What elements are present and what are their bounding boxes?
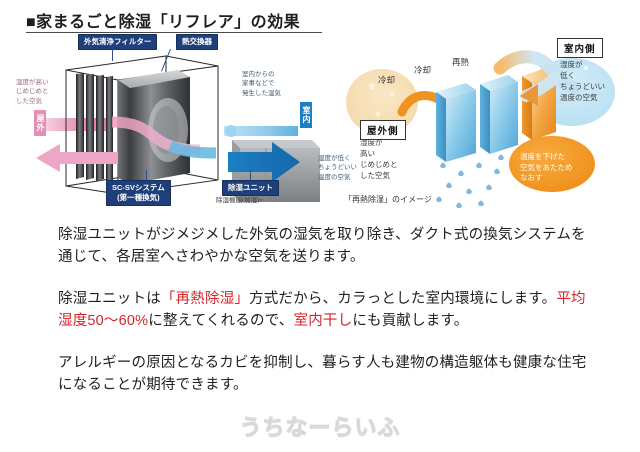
cooling-coil-1 bbox=[436, 83, 476, 162]
page-title: ■家まるごと除湿「リフレア」の効果 bbox=[26, 8, 300, 32]
chip-sc-sv-system: SC-SVシステム (第一種換気) bbox=[106, 180, 171, 206]
cooling-coil-2 bbox=[480, 75, 518, 154]
note-right-humid-air: 湿度が 高い じめじめと した空気 bbox=[360, 138, 398, 182]
note-humid-air-in: 湿度が高い じめじめと した空気 bbox=[16, 78, 49, 106]
condensate-droplets bbox=[436, 155, 504, 209]
diagram-area: 外気清浄フィルター 熱交換器 SC-SVシステム (第一種換気) 除湿ユニット … bbox=[0, 34, 640, 214]
leader-filter bbox=[112, 49, 113, 61]
label-cool-2: 冷却 bbox=[414, 64, 431, 76]
label-outdoor-side: 屋外側 bbox=[360, 120, 406, 140]
paragraph-3: アレルギーの原因となるカビを抑制し、暮らす人も建物の構造躯体も健康な住宅になるこ… bbox=[58, 352, 598, 397]
chip-outdoor-filter: 外気清浄フィルター bbox=[78, 34, 157, 50]
indoor-moisture-inflow bbox=[224, 125, 298, 137]
p2-highlight-reheat: 「再熱除湿」 bbox=[161, 291, 249, 307]
label-cool-1: 冷却 bbox=[378, 74, 395, 86]
dehumidifier-subcaption: 除湿機能(加湿)= bbox=[216, 196, 263, 205]
watermark: うちなーらいふ bbox=[0, 410, 640, 442]
slide-root: ■家まるごと除湿「リフレア」の効果 bbox=[0, 0, 640, 452]
label-reheat: 再熱 bbox=[452, 56, 469, 68]
note-indoor-moisture: 室内からの 家事などで 発生した湿気 bbox=[242, 70, 281, 98]
chip-heat-exchanger: 熱交換器 bbox=[176, 34, 218, 50]
note-right-dry-air: 湿度が 低く ちょうどいい 温度の空気 bbox=[560, 60, 605, 104]
inflow-arrow bbox=[402, 96, 440, 112]
label-indoor-side: 室内側 bbox=[557, 38, 603, 58]
caption-reheat-image: 「再熱除湿」のイメージ bbox=[344, 194, 432, 205]
leader-sc-sv bbox=[146, 170, 147, 181]
tag-outdoor: 屋外 bbox=[34, 110, 46, 136]
note-reheat-blob: 温度を下げた 空気をあたため なおす bbox=[520, 152, 573, 184]
title-divider bbox=[26, 32, 322, 33]
paragraph-2: 除湿ユニットは「再熱除湿」方式だから、カラっとした室内環境にします。平均湿度50… bbox=[58, 288, 598, 333]
paragraph-1: 除湿ユニットがジメジメした外気の湿気を取り除き、ダクト式の換気システムを通じて、… bbox=[58, 224, 598, 269]
p2-seg-1: 除湿ユニットは bbox=[58, 291, 161, 307]
p2-seg-3: 方式だから、カラっとした室内環境にします。 bbox=[249, 291, 556, 307]
chip-sc-sv-line1: SC-SVシステム bbox=[112, 183, 165, 193]
chip-dehumidifier-unit: 除湿ユニット bbox=[222, 180, 279, 196]
leader-dehumidifier bbox=[250, 170, 251, 181]
p2-highlight-indoor-drying: 室内干し bbox=[294, 313, 353, 329]
tag-indoor: 室内 bbox=[300, 102, 312, 128]
chip-sc-sv-line2: (第一種換気) bbox=[112, 193, 165, 203]
p2-seg-5: に整えてくれるので、 bbox=[148, 313, 293, 329]
p2-seg-7: にも貢献します。 bbox=[352, 313, 468, 329]
